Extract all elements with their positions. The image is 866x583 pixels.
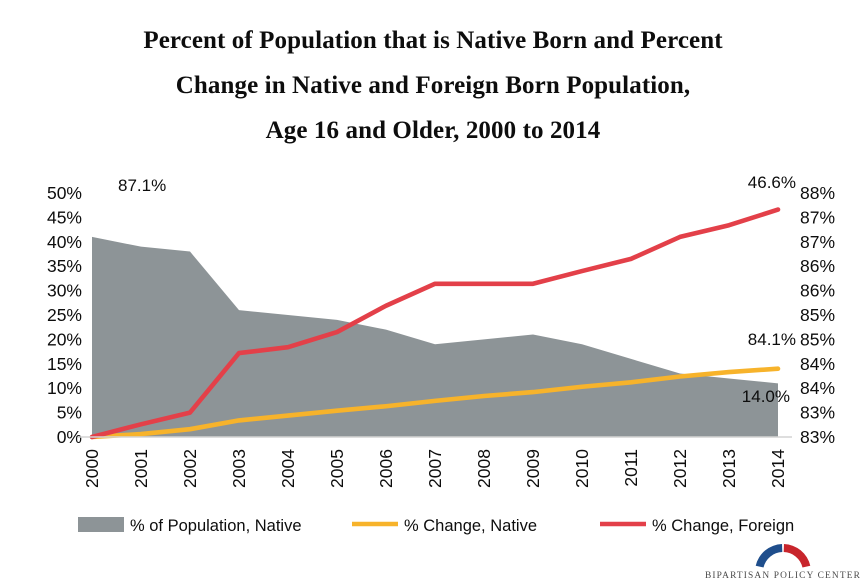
- x-axis-tick-label: 2008: [474, 449, 494, 488]
- data-label: 14.0%: [742, 387, 790, 406]
- x-axis-tick-label: 2002: [180, 449, 200, 488]
- logo-arch-left: [756, 544, 783, 567]
- legend-label: % Change, Native: [404, 517, 537, 535]
- left-axis-tick-label: 5%: [57, 403, 82, 423]
- data-label: 46.6%: [748, 173, 796, 192]
- bpc-logo: BIPARTISAN POLICY CENTER: [705, 544, 861, 581]
- x-axis-tick-label: 2000: [82, 449, 102, 488]
- chart-legend: % of Population, Native% Change, Native%…: [78, 517, 794, 535]
- x-axis-tick-label: 2012: [670, 449, 690, 488]
- legend-item: % of Population, Native: [78, 517, 302, 535]
- right-axis-tick-label: 87%: [800, 232, 835, 252]
- left-axis-tick-label: 50%: [47, 183, 82, 203]
- x-axis-tick-label: 2010: [572, 449, 592, 488]
- right-axis-tick-label: 85%: [800, 329, 835, 349]
- left-axis: 0%5%10%15%20%25%30%35%40%45%50%: [47, 183, 82, 447]
- left-axis-tick-label: 40%: [47, 232, 82, 252]
- legend-swatch: [78, 517, 124, 532]
- right-axis-tick-label: 84%: [800, 354, 835, 374]
- data-label: 84.1%: [748, 330, 796, 349]
- x-axis: 2000200120022003200420052006200720082009…: [82, 449, 788, 488]
- right-axis-tick-label: 85%: [800, 305, 835, 325]
- left-axis-tick-label: 45%: [47, 207, 82, 227]
- left-axis-tick-label: 10%: [47, 378, 82, 398]
- legend-label: % of Population, Native: [130, 517, 302, 535]
- x-axis-tick-label: 2007: [425, 449, 445, 488]
- x-axis-tick-label: 2004: [278, 449, 298, 488]
- legend-item: % Change, Foreign: [600, 517, 794, 535]
- left-axis-tick-label: 20%: [47, 329, 82, 349]
- right-axis-tick-label: 86%: [800, 256, 835, 276]
- x-axis-tick-label: 2011: [621, 449, 641, 487]
- x-axis-tick-label: 2014: [768, 449, 788, 488]
- right-axis-tick-label: 88%: [800, 183, 835, 203]
- series-layer: [92, 210, 778, 437]
- x-axis-tick-label: 2005: [327, 449, 347, 488]
- right-axis-tick-label: 86%: [800, 281, 835, 301]
- x-axis-tick-label: 2009: [523, 449, 543, 488]
- right-axis-tick-label: 83%: [800, 403, 835, 423]
- chart-title-line-1: Percent of Population that is Native Bor…: [0, 18, 866, 63]
- chart-figure: Percent of Population that is Native Bor…: [0, 0, 866, 583]
- chart-title-line-3: Age 16 and Older, 2000 to 2014: [0, 108, 866, 153]
- logo-wordmark: BIPARTISAN POLICY CENTER: [705, 571, 861, 581]
- logo-arch-right: [784, 544, 811, 567]
- legend-label: % Change, Foreign: [652, 517, 794, 535]
- x-axis-tick-label: 2003: [229, 449, 249, 488]
- right-axis-tick-label: 83%: [800, 427, 835, 447]
- left-axis-tick-label: 30%: [47, 281, 82, 301]
- right-axis-tick-label: 87%: [800, 207, 835, 227]
- left-axis-tick-label: 25%: [47, 305, 82, 325]
- x-axis-tick-label: 2001: [131, 449, 151, 488]
- left-axis-tick-label: 15%: [47, 354, 82, 374]
- legend-item: % Change, Native: [352, 517, 537, 535]
- chart-title: Percent of Population that is Native Bor…: [0, 18, 866, 153]
- right-axis: 83%83%84%84%85%85%86%86%87%87%88%: [800, 183, 835, 447]
- x-axis-tick-label: 2006: [376, 449, 396, 488]
- data-label: 87.1%: [118, 176, 166, 195]
- chart-title-line-2: Change in Native and Foreign Born Popula…: [0, 63, 866, 108]
- x-axis-tick-label: 2013: [719, 449, 739, 488]
- left-axis-tick-label: 35%: [47, 256, 82, 276]
- right-axis-tick-label: 84%: [800, 378, 835, 398]
